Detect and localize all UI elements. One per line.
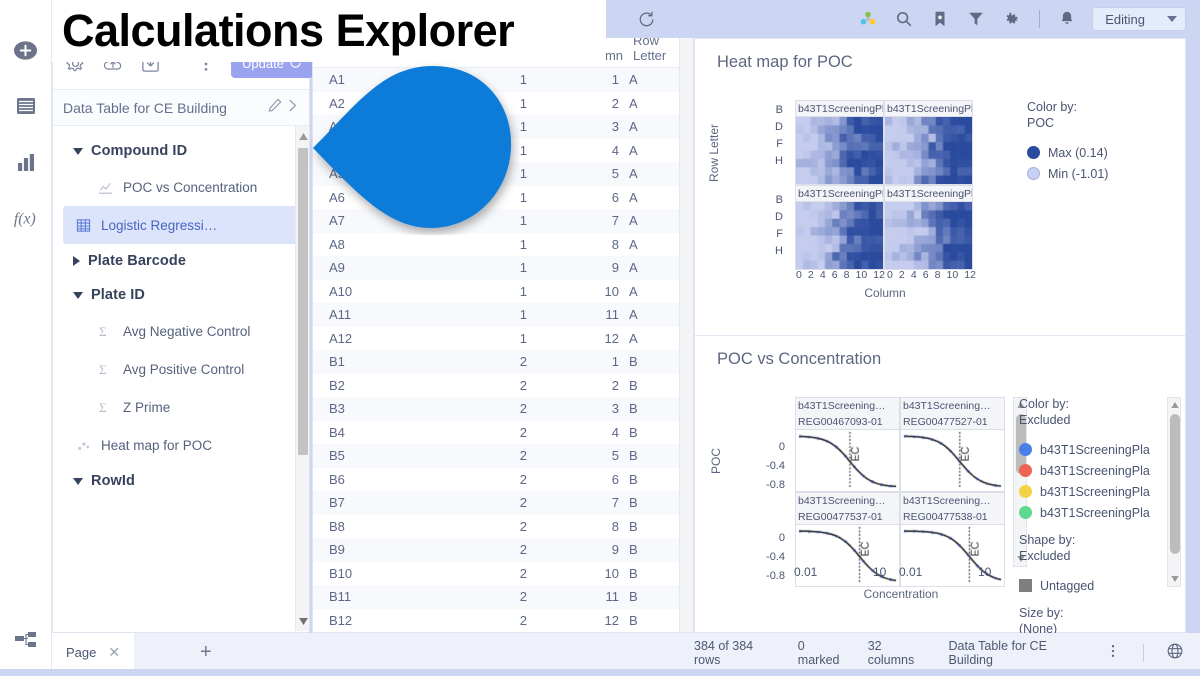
poc-subpanel[interactable]: b43T1Screening… REG00467093-01 xyxy=(795,397,900,492)
table-cell: 1 xyxy=(431,237,527,252)
legend-color-by-value[interactable]: POC xyxy=(1027,116,1177,130)
table-cell: A xyxy=(619,331,677,346)
table-cell: 9 xyxy=(527,542,619,557)
heatmap-canvas xyxy=(795,117,884,185)
heatmap-x-ticks: 0 2 4 6 8 10 12 0 2 4 6 8 10 xyxy=(795,269,977,281)
y-tick: -0.4 xyxy=(755,460,785,472)
spotfire-logo-icon[interactable] xyxy=(857,8,879,30)
table-cell: A xyxy=(619,119,677,134)
heatmap-subpanel[interactable]: b43T1ScreeningPl… xyxy=(884,100,973,185)
x-tick: 6 xyxy=(923,269,929,281)
poc-x-tick: 10 xyxy=(873,565,886,579)
table-cell: 2 xyxy=(431,425,527,440)
table-cell: 12 xyxy=(527,331,619,346)
x-tick: 2 xyxy=(899,269,905,281)
editing-mode-label: Editing xyxy=(1105,12,1145,27)
table-cell: 1 xyxy=(431,284,527,299)
legend-item-min[interactable]: Min (-1.01) xyxy=(1027,163,1177,184)
y-tick: -0.4 xyxy=(755,551,785,563)
table-cell: 4 xyxy=(527,425,619,440)
title-overlay-card: Calculations Explorer xyxy=(52,0,606,62)
table-cell: 2 xyxy=(431,378,527,393)
table-cell: B3 xyxy=(313,401,431,416)
table-row[interactable]: B626B xyxy=(313,468,693,492)
svg-text:f(x): f(x) xyxy=(13,211,35,228)
heatmap-canvas xyxy=(884,202,973,270)
scatter-icon xyxy=(75,437,92,454)
table-cell: 11 xyxy=(527,589,619,604)
add-icon[interactable] xyxy=(12,36,40,64)
bookmark-icon[interactable] xyxy=(929,8,951,30)
legend-color-swatch xyxy=(1019,485,1032,498)
heatmap-body: Row Letter B D F H B D F H b43T1Scr xyxy=(695,72,1185,312)
scroll-up-icon[interactable] xyxy=(1168,398,1182,412)
table-cell: A10 xyxy=(313,284,431,299)
add-page-icon[interactable]: + xyxy=(200,642,212,662)
tree-node-label: Avg Negative Control xyxy=(123,324,250,339)
poc-panel: POC vs Concentration POC 0 -0.4 -0.8 0 -… xyxy=(694,335,1186,633)
table-cell: B xyxy=(619,566,677,581)
heatmap-subpanel[interactable]: b43T1ScreeningPl… xyxy=(795,185,884,270)
table-row[interactable]: B424B xyxy=(313,421,693,445)
table-cell: A xyxy=(619,237,677,252)
x-tick: 2 xyxy=(808,269,814,281)
close-icon[interactable]: ✕ xyxy=(108,644,120,661)
table-cell: 8 xyxy=(527,237,619,252)
legend-item-label: b43T1ScreeningPla xyxy=(1040,506,1150,520)
tree-group-compound-id[interactable]: Compound ID xyxy=(53,134,309,168)
tree-group-label: Compound ID xyxy=(91,143,187,159)
gear-icon[interactable] xyxy=(1001,8,1023,30)
sigma-icon: Σ xyxy=(97,399,114,416)
tree-node-label: POC vs Concentration xyxy=(123,180,257,195)
y-tick: H xyxy=(775,153,783,170)
tree-group-label: Plate ID xyxy=(91,287,145,303)
calculations-tree-body: Compound IDPOC vs ConcentrationLogistic … xyxy=(53,134,309,498)
table-cell: 9 xyxy=(527,260,619,275)
chevron-down-icon xyxy=(73,148,83,155)
status-bar: 384 of 384 rows 0 marked 32 columns Data… xyxy=(694,633,1200,672)
table-cell: A11 xyxy=(313,307,431,322)
table-grid-icon xyxy=(75,217,92,234)
table-cell: 10 xyxy=(527,566,619,581)
legend-item[interactable]: b43T1ScreeningPla xyxy=(1019,502,1161,523)
table-cell: B xyxy=(619,495,677,510)
poc-canvas xyxy=(900,430,1005,492)
table-cell: A xyxy=(619,284,677,299)
legend-item[interactable]: b43T1ScreeningPla xyxy=(1019,481,1161,502)
table-cell: 1 xyxy=(431,260,527,275)
heatmap-x-ticks-left: 0 2 4 6 8 10 12 xyxy=(795,269,886,281)
legend-item-label: Min (-1.01) xyxy=(1048,167,1108,181)
heatmap-panel-title: b43T1ScreeningPl… xyxy=(884,185,973,202)
scrollbar-thumb[interactable] xyxy=(1170,414,1180,554)
x-tick: 8 xyxy=(935,269,941,281)
table-cell: A xyxy=(619,307,677,322)
y-tick: D xyxy=(775,209,783,226)
poc-panel-title: b43T1Screening… xyxy=(903,398,1004,414)
heatmap-x-ticks-right: 0 2 4 6 8 10 12 xyxy=(886,269,977,281)
tree-group-rowid[interactable]: RowId xyxy=(53,464,309,498)
table-cell: B12 xyxy=(313,613,431,628)
table-cell: 2 xyxy=(431,354,527,369)
x-tick: 10 xyxy=(947,269,959,281)
status-rows: 384 of 384 rows xyxy=(694,639,776,667)
table-row[interactable]: A818A xyxy=(313,233,693,257)
table-cell: 6 xyxy=(527,190,619,205)
legend-color-swatch xyxy=(1019,506,1032,519)
poc-panel-caption: b43T1Screening… REG00477538-01 xyxy=(900,492,1005,525)
table-cell: B7 xyxy=(313,495,431,510)
calculations-panel: Update Data Table for CE Building xyxy=(52,38,310,633)
page-tab[interactable]: Page ✕ xyxy=(52,633,134,672)
y-tick: F xyxy=(775,226,783,243)
legend-size-by-label: Size by: xyxy=(1019,606,1161,620)
table-cell: A12 xyxy=(313,331,431,346)
table-row[interactable]: A12112A xyxy=(313,327,693,351)
topbar-right-icons: Editing xyxy=(857,7,1200,31)
table-cell: B xyxy=(619,448,677,463)
filter-icon[interactable] xyxy=(965,8,987,30)
poc-y-ticks-bottom: 0 -0.4 -0.8 xyxy=(755,532,785,582)
poc-panel-caption: b43T1Screening… REG00477527-01 xyxy=(900,397,1005,430)
poc-panel-subtitle: REG00467093-01 xyxy=(798,414,899,430)
table-cell: A xyxy=(619,96,677,111)
chevron-down-icon xyxy=(73,478,83,485)
heatmap-title: Heat map for POC xyxy=(695,39,1185,72)
table-cell: 2 xyxy=(431,542,527,557)
tree-group-label: RowId xyxy=(91,473,135,489)
table-cell: 5 xyxy=(527,448,619,463)
legend-item-untagged[interactable]: Untagged xyxy=(1019,575,1161,596)
y-tick: 0 xyxy=(755,532,785,544)
sigma-icon: Σ xyxy=(97,361,114,378)
legend-item-label: b43T1ScreeningPla xyxy=(1040,443,1150,457)
poc-panel-subtitle: REG00477538-01 xyxy=(903,509,1004,525)
line-chart-icon xyxy=(97,179,114,196)
y-tick: B xyxy=(775,192,783,209)
calculations-tree: Compound IDPOC vs ConcentrationLogistic … xyxy=(53,126,309,631)
table-cell: 11 xyxy=(527,307,619,322)
table-icon[interactable] xyxy=(12,92,40,120)
y-tick: B xyxy=(775,102,783,119)
table-cell: 1 xyxy=(527,72,619,87)
table-cell: 2 xyxy=(431,401,527,416)
table-cell: B xyxy=(619,378,677,393)
heatmap-panel-title: b43T1ScreeningPl… xyxy=(795,100,884,117)
poc-x-tick: 0.01 xyxy=(899,565,922,579)
chevron-right-icon xyxy=(73,256,80,266)
y-tick: D xyxy=(775,119,783,136)
table-cell: 2 xyxy=(527,96,619,111)
table-cell: 2 xyxy=(431,472,527,487)
table-cell: B2 xyxy=(313,378,431,393)
table-cell: 2 xyxy=(431,589,527,604)
legend-shape-by-label: Shape by: xyxy=(1019,533,1161,547)
table-row[interactable]: B222B xyxy=(313,374,693,398)
table-cell: 2 xyxy=(431,613,527,628)
table-cell: 4 xyxy=(527,143,619,158)
heatmap-y-ticks-top: B D F H xyxy=(775,102,783,170)
heatmap-panel-title: b43T1ScreeningPl… xyxy=(795,185,884,202)
tree-node-z-prime[interactable]: ΣZ Prime xyxy=(53,388,309,426)
table-cell: B xyxy=(619,401,677,416)
page-tab-label: Page xyxy=(66,645,96,660)
heatmap-panel-title: b43T1ScreeningPl… xyxy=(884,100,973,117)
poc-body: POC 0 -0.4 -0.8 0 -0.4 -0.8 b43T1Scree xyxy=(695,369,1185,619)
x-tick: 0 xyxy=(887,269,893,281)
legend-item-label: b43T1ScreeningPla xyxy=(1040,485,1150,499)
legend-color-by-label: Color by: xyxy=(1027,100,1177,114)
table-cell: B xyxy=(619,354,677,369)
poc-x-tick: 0.01 xyxy=(794,565,817,579)
table-cell: B4 xyxy=(313,425,431,440)
legend-color-swatch xyxy=(1019,464,1032,477)
poc-panel-subtitle: REG00477537-01 xyxy=(798,509,899,525)
x-tick: 12 xyxy=(964,269,976,281)
table-cell: B xyxy=(619,519,677,534)
y-tick: 0 xyxy=(755,441,785,453)
refresh-icon[interactable] xyxy=(635,8,657,30)
table-row[interactable]: A919A xyxy=(313,256,693,280)
y-tick: -0.8 xyxy=(755,570,785,582)
table-cell: 2 xyxy=(431,566,527,581)
legend-item-label: Max (0.14) xyxy=(1048,146,1108,160)
tree-node-logistic-regressi[interactable]: Logistic Regressi… xyxy=(63,206,299,244)
table-cell: 1 xyxy=(431,331,527,346)
heatmap-canvas xyxy=(884,117,973,185)
left-icon-rail: f(x) xyxy=(0,0,52,676)
data-flow-icon[interactable] xyxy=(0,630,52,652)
status-marked: 0 marked xyxy=(798,639,846,667)
table-cell: 2 xyxy=(527,378,619,393)
table-cell: 12 xyxy=(527,613,619,628)
heatmap-legend: Color by: POC Max (0.14) Min (-1.01) xyxy=(1027,100,1177,184)
heatmap-y-ticks-bottom: B D F H xyxy=(775,192,783,260)
table-cell: B1 xyxy=(313,354,431,369)
poc-panel-title: b43T1Screening… xyxy=(903,493,1004,509)
search-icon[interactable] xyxy=(893,8,915,30)
table-cell: 3 xyxy=(527,119,619,134)
table-cell: A9 xyxy=(313,260,431,275)
table-cell: A xyxy=(619,213,677,228)
table-cell: B xyxy=(619,589,677,604)
table-cell: 2 xyxy=(431,519,527,534)
editing-mode-dropdown[interactable]: Editing xyxy=(1092,7,1186,31)
scroll-down-icon[interactable] xyxy=(1168,572,1182,586)
table-cell: 7 xyxy=(527,495,619,510)
poc-canvas xyxy=(795,430,900,492)
tree-group-label: Plate Barcode xyxy=(88,253,186,269)
function-icon[interactable]: f(x) xyxy=(12,204,40,232)
legend-item-max[interactable]: Max (0.14) xyxy=(1027,142,1177,163)
table-row[interactable]: B727B xyxy=(313,491,693,515)
table-cell: B11 xyxy=(313,589,431,604)
poc-panel-title: b43T1Screening… xyxy=(798,493,899,509)
table-cell: 2 xyxy=(431,448,527,463)
table-row[interactable]: B10210B xyxy=(313,562,693,586)
poc-panel-subtitle: REG00477527-01 xyxy=(903,414,1004,430)
poc-title: POC vs Concentration xyxy=(695,336,1185,369)
column-header-row-letter[interactable]: Row Letter xyxy=(623,38,681,63)
tree-node-avg-negative-control[interactable]: ΣAvg Negative Control xyxy=(53,312,309,350)
legend-item-label: Untagged xyxy=(1040,579,1094,593)
poc-legend: Color by: Excluded b43T1ScreeningPla b43… xyxy=(1019,397,1161,648)
tree-node-label: Avg Positive Control xyxy=(123,362,244,377)
legend-item[interactable]: b43T1ScreeningPla xyxy=(1019,460,1161,481)
status-divider xyxy=(1143,644,1144,662)
table-cell: B10 xyxy=(313,566,431,581)
tree-node-label: Logistic Regressi… xyxy=(101,218,217,233)
table-cell: 2 xyxy=(431,495,527,510)
table-row[interactable]: B121B xyxy=(313,350,693,374)
table-row[interactable]: B323B xyxy=(313,397,693,421)
page-title: Calculations Explorer xyxy=(62,5,514,57)
table-cell: A8 xyxy=(313,237,431,252)
cursor-pointer-blob xyxy=(305,60,520,235)
x-tick: 10 xyxy=(856,269,868,281)
legend-color-swatch xyxy=(1019,443,1032,456)
poc-legend-scrollbar[interactable] xyxy=(1167,397,1181,587)
table-cell: 1 xyxy=(527,354,619,369)
status-table-name: Data Table for CE Building xyxy=(948,639,1083,667)
x-tick: 12 xyxy=(873,269,885,281)
table-scrollbar[interactable] xyxy=(679,38,693,633)
tree-node-poc-vs-concentration[interactable]: POC vs Concentration xyxy=(53,168,309,206)
tree-node-label: Heat map for POC xyxy=(101,438,212,453)
table-cell: 3 xyxy=(527,401,619,416)
poc-x-axis-label: Concentration xyxy=(795,587,1007,601)
x-tick: 0 xyxy=(796,269,802,281)
table-cell: B xyxy=(619,472,677,487)
legend-color-swatch xyxy=(1027,167,1040,180)
legend-color-swatch xyxy=(1027,146,1040,159)
data-table-name: Data Table for CE Building xyxy=(63,100,227,116)
poc-y-axis-label: POC xyxy=(709,448,723,474)
table-row[interactable]: B828B xyxy=(313,515,693,539)
table-cell: B5 xyxy=(313,448,431,463)
pencil-icon[interactable] xyxy=(267,97,283,118)
poc-panel-title: b43T1Screening… xyxy=(798,398,899,414)
heatmap-canvas xyxy=(795,202,884,270)
y-tick: F xyxy=(775,136,783,153)
app-window: Editing f(x) xyxy=(0,0,1200,676)
svg-text:Σ: Σ xyxy=(99,400,107,415)
tree-node-label: Z Prime xyxy=(123,400,170,415)
bell-icon[interactable] xyxy=(1056,8,1078,30)
legend-item[interactable]: b43T1ScreeningPla xyxy=(1019,439,1161,460)
table-cell: A xyxy=(619,143,677,158)
table-row[interactable]: B929B xyxy=(313,538,693,562)
heatmap-grid: b43T1ScreeningPl… b43T1ScreeningPl… b43T… xyxy=(795,100,975,270)
heatmap-x-axis-label: Column xyxy=(795,286,975,300)
data-table-selector[interactable]: Data Table for CE Building xyxy=(53,90,309,126)
table-cell: B6 xyxy=(313,472,431,487)
table-cell: 5 xyxy=(527,166,619,181)
heatmap-subpanel[interactable]: b43T1ScreeningPl… xyxy=(795,100,884,185)
legend-color-by-value[interactable]: Excluded xyxy=(1019,413,1161,427)
legend-item-label: b43T1ScreeningPla xyxy=(1040,464,1150,478)
x-tick: 6 xyxy=(832,269,838,281)
x-tick: 8 xyxy=(844,269,850,281)
poc-grid: b43T1Screening… REG00467093-01 b43T1Scre… xyxy=(795,397,1005,587)
chevron-down-icon xyxy=(1167,16,1177,22)
table-cell: A xyxy=(619,190,677,205)
toolbar-divider xyxy=(1039,10,1040,28)
y-tick: -0.8 xyxy=(755,479,785,491)
table-cell: B xyxy=(619,425,677,440)
poc-panel-caption: b43T1Screening… REG00477537-01 xyxy=(795,492,900,525)
chevron-down-icon xyxy=(73,292,83,299)
table-cell: 10 xyxy=(527,284,619,299)
table-cell: A xyxy=(619,72,677,87)
tree-group-plate-id[interactable]: Plate ID xyxy=(53,278,309,312)
table-cell: 1 xyxy=(431,307,527,322)
visualizations-area: Heat map for POC Row Letter B D F H B D … xyxy=(694,38,1186,633)
heatmap-y-axis-label: Row Letter xyxy=(707,124,721,182)
table-cell: B xyxy=(619,542,677,557)
legend-shape-by-value[interactable]: Excluded xyxy=(1019,549,1161,563)
window-bottom-strip xyxy=(0,669,1200,676)
poc-x-tick: 10 xyxy=(978,565,991,579)
chevron-right-icon[interactable] xyxy=(286,98,299,118)
data-table-actions xyxy=(267,97,299,118)
poc-panel-caption: b43T1Screening… REG00467093-01 xyxy=(795,397,900,430)
bar-chart-icon[interactable] xyxy=(12,148,40,176)
table-cell: A xyxy=(619,166,677,181)
tree-node-avg-positive-control[interactable]: ΣAvg Positive Control xyxy=(53,350,309,388)
table-cell: B9 xyxy=(313,542,431,557)
scroll-down-icon[interactable] xyxy=(296,611,309,631)
table-row[interactable]: A10110A xyxy=(313,280,693,304)
y-tick: H xyxy=(775,243,783,260)
x-tick: 4 xyxy=(820,269,826,281)
status-columns: 32 columns xyxy=(868,639,927,667)
table-cell: B xyxy=(619,613,677,628)
more-vertical-icon[interactable] xyxy=(1105,643,1121,662)
table-row[interactable]: B12212B xyxy=(313,609,693,633)
svg-text:Σ: Σ xyxy=(99,324,107,339)
heatmap-subpanel[interactable]: b43T1ScreeningPl… xyxy=(884,185,973,270)
x-tick: 4 xyxy=(911,269,917,281)
table-row[interactable]: A11111A xyxy=(313,303,693,327)
table-row[interactable]: B525B xyxy=(313,444,693,468)
poc-subpanel[interactable]: b43T1Screening… REG00477527-01 xyxy=(900,397,1005,492)
tree-node-heat-map-for-poc[interactable]: Heat map for POC xyxy=(53,426,309,464)
table-cell: 6 xyxy=(527,472,619,487)
page-tabbar: Page ✕ + xyxy=(52,633,694,672)
table-cell: A xyxy=(619,260,677,275)
legend-color-by-label: Color by: xyxy=(1019,397,1161,411)
heatmap-panel: Heat map for POC Row Letter B D F H B D … xyxy=(694,38,1186,335)
svg-text:Σ: Σ xyxy=(99,362,107,377)
table-cell: B8 xyxy=(313,519,431,534)
table-cell: 8 xyxy=(527,519,619,534)
legend-shape-swatch xyxy=(1019,579,1032,592)
sigma-icon: Σ xyxy=(97,323,114,340)
table-row[interactable]: B11211B xyxy=(313,585,693,609)
tree-group-plate-barcode[interactable]: Plate Barcode xyxy=(53,244,309,278)
table-cell: 7 xyxy=(527,213,619,228)
globe-icon[interactable] xyxy=(1166,642,1184,663)
poc-y-ticks-top: 0 -0.4 -0.8 xyxy=(755,441,785,491)
